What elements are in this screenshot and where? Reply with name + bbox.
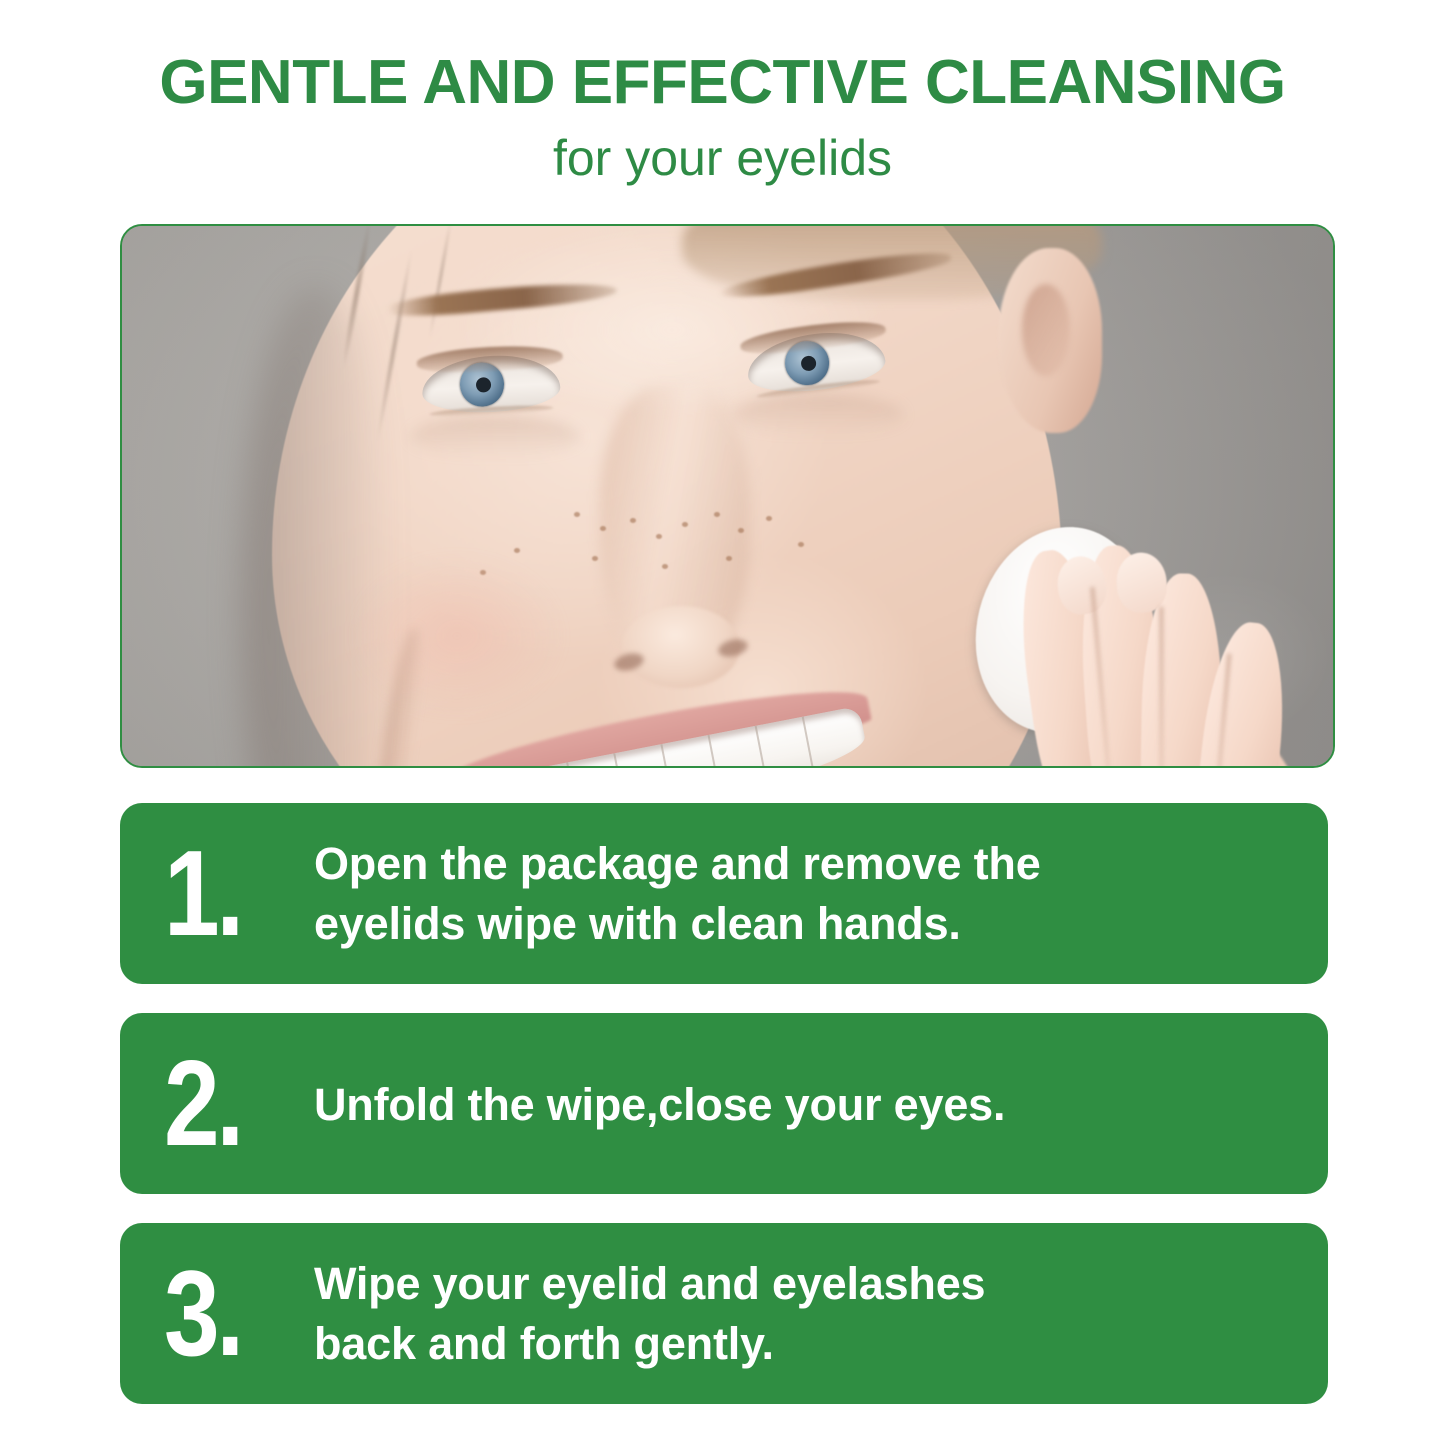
freckle — [766, 516, 772, 521]
ear-inner — [1022, 284, 1070, 376]
freckle — [798, 542, 804, 547]
step-number-1: 1. — [164, 843, 287, 943]
cheek-blush — [352, 556, 562, 716]
hero-photo-frame — [120, 224, 1335, 768]
step-text-2: Unfold the wipe,close your eyes. — [314, 1073, 1005, 1134]
page-subtitle: for your eyelids — [0, 131, 1445, 186]
freckle — [600, 526, 606, 531]
freckle — [592, 556, 598, 561]
step-number-2: 2. — [164, 1053, 287, 1153]
freckle — [662, 564, 668, 569]
freckle — [574, 512, 580, 517]
freckle — [682, 522, 688, 527]
instruction-step-1: 1. Open the package and remove the eyeli… — [120, 803, 1328, 984]
instruction-steps: 1. Open the package and remove the eyeli… — [120, 803, 1328, 1404]
instruction-step-2: 2. Unfold the wipe,close your eyes. — [120, 1013, 1328, 1194]
step-text-1: Open the package and remove the eyelids … — [314, 834, 1041, 953]
freckle — [714, 512, 720, 517]
undereye-left — [410, 416, 580, 458]
page-title: GENTLE AND EFFECTIVE CLEANSING — [0, 50, 1445, 115]
freckle — [514, 548, 520, 553]
freckle — [656, 534, 662, 539]
page-header: GENTLE AND EFFECTIVE CLEANSING for your … — [0, 0, 1445, 186]
step-number-3: 3. — [164, 1263, 287, 1363]
finger-separator — [1159, 607, 1163, 768]
freckle — [630, 518, 636, 523]
eye-left — [421, 352, 562, 415]
freckle — [726, 556, 732, 561]
step-text-3: Wipe your eyelid and eyelashes back and … — [314, 1254, 985, 1373]
instruction-step-3: 3. Wipe your eyelid and eyelashes back a… — [120, 1223, 1328, 1404]
freckle — [738, 528, 744, 533]
undereye-right — [734, 394, 904, 436]
woman-face-cotton-pad-photo — [122, 226, 1333, 766]
fingernail — [1115, 551, 1169, 614]
